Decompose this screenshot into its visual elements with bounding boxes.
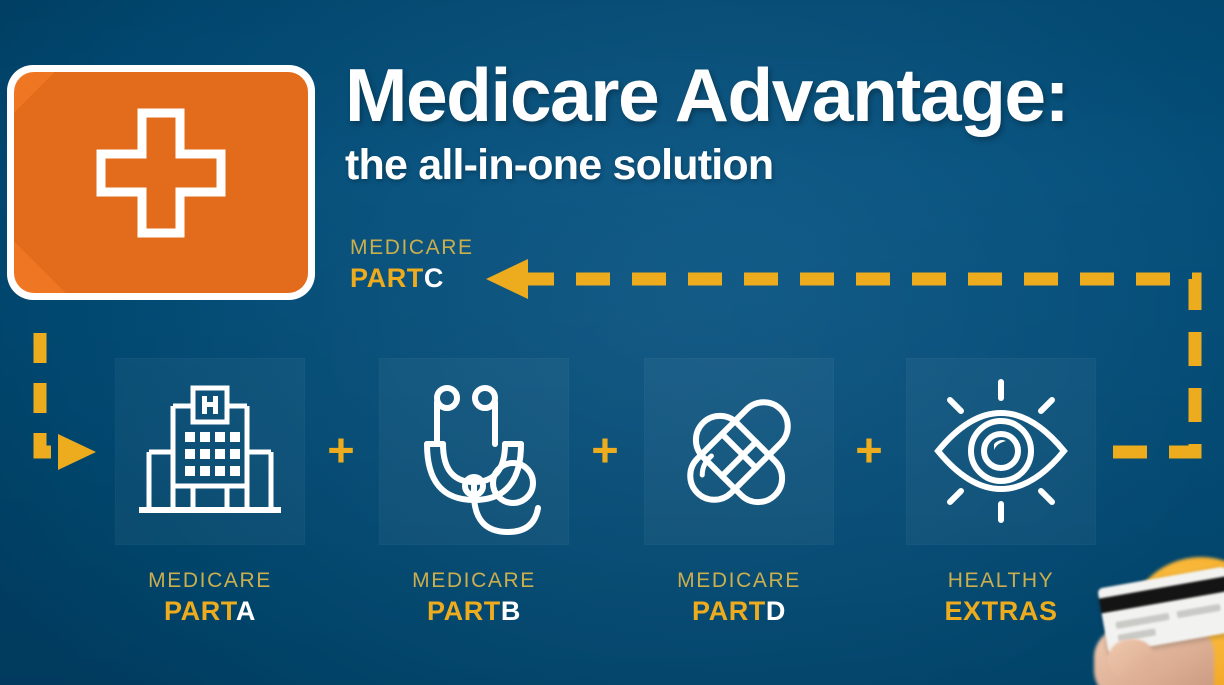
pillar-prefix: PART <box>427 596 501 626</box>
pillar-line1: MEDICARE <box>644 569 834 593</box>
pillar-line2: PARTD <box>644 595 834 627</box>
brand-logo-tile <box>7 65 315 300</box>
part-c-prefix: PART <box>350 263 424 293</box>
pillar-part-b[interactable]: MEDICARE PARTB <box>379 358 569 628</box>
photo-orange-backdrop <box>1126 557 1224 685</box>
pillar-line2: EXTRAS <box>906 595 1096 627</box>
headline-block: Medicare Advantage: the all-in-one solut… <box>345 58 1185 188</box>
pillar-card-part-d <box>644 358 834 545</box>
pillar-line2: PARTA <box>115 595 305 627</box>
pillar-card-healthy-extras <box>906 358 1096 545</box>
infographic-canvas: Medicare Advantage: the all-in-one solut… <box>0 0 1224 685</box>
pillar-line1: HEALTHY <box>906 569 1096 593</box>
pillar-card-part-b <box>379 358 569 545</box>
photo-card-line <box>1118 628 1157 641</box>
photo-insurance-card <box>1097 566 1224 654</box>
eye-highlight <box>994 440 1006 450</box>
pillar-caption-healthy-extras: HEALTHY EXTRAS <box>906 569 1096 628</box>
pills-icon <box>644 358 834 545</box>
part-c-line2: PARTC <box>350 262 474 294</box>
pillar-part-d[interactable]: MEDICARE PARTD <box>644 358 834 628</box>
part-c-label: MEDICARE PARTC <box>350 236 474 295</box>
pillar-caption-part-b: MEDICARE PARTB <box>379 569 569 628</box>
pillar-healthy-extras[interactable]: HEALTHY EXTRAS <box>906 358 1096 628</box>
arrowhead-into-part-c <box>486 259 528 299</box>
pillar-line1: MEDICARE <box>115 569 305 593</box>
pillar-prefix: PART <box>692 596 766 626</box>
pillar-line1: MEDICARE <box>379 569 569 593</box>
photo-thumb-shape <box>1108 639 1154 679</box>
photo-card-line <box>1115 613 1169 629</box>
hand-holding-card-photo <box>1074 535 1224 685</box>
medical-cross-icon <box>14 72 308 293</box>
stethoscope-icon <box>379 358 569 545</box>
page-subtitle: the all-in-one solution <box>345 143 1185 188</box>
separator-plus-2: + <box>585 431 625 471</box>
pillar-letter: D <box>766 596 786 626</box>
hospital-icon <box>115 358 305 545</box>
part-c-line1: MEDICARE <box>350 236 474 260</box>
flow-path-left <box>40 333 60 452</box>
separator-plus-1: + <box>321 431 361 471</box>
pillar-part-a[interactable]: MEDICARE PARTA <box>115 358 305 628</box>
pillar-caption-part-a: MEDICARE PARTA <box>115 569 305 628</box>
pillar-card-part-a <box>115 358 305 545</box>
part-c-letter: C <box>424 263 444 293</box>
pillar-line2: PARTB <box>379 595 569 627</box>
separator-plus-3: + <box>849 431 889 471</box>
arrowhead-into-part-a <box>58 434 96 470</box>
pillar-letter: A <box>236 596 256 626</box>
pillar-caption-part-d: MEDICARE PARTD <box>644 569 834 628</box>
pillar-letter: B <box>501 596 521 626</box>
pillar-prefix: EXTRAS <box>944 596 1057 626</box>
pillar-prefix: PART <box>164 596 236 626</box>
page-title: Medicare Advantage: <box>345 58 1185 133</box>
photo-card-line <box>1176 604 1221 619</box>
photo-card-magstripe <box>1099 576 1224 613</box>
photo-hand-shape <box>1094 621 1214 685</box>
brand-logo-inner <box>14 72 308 293</box>
eye-icon <box>906 358 1096 545</box>
